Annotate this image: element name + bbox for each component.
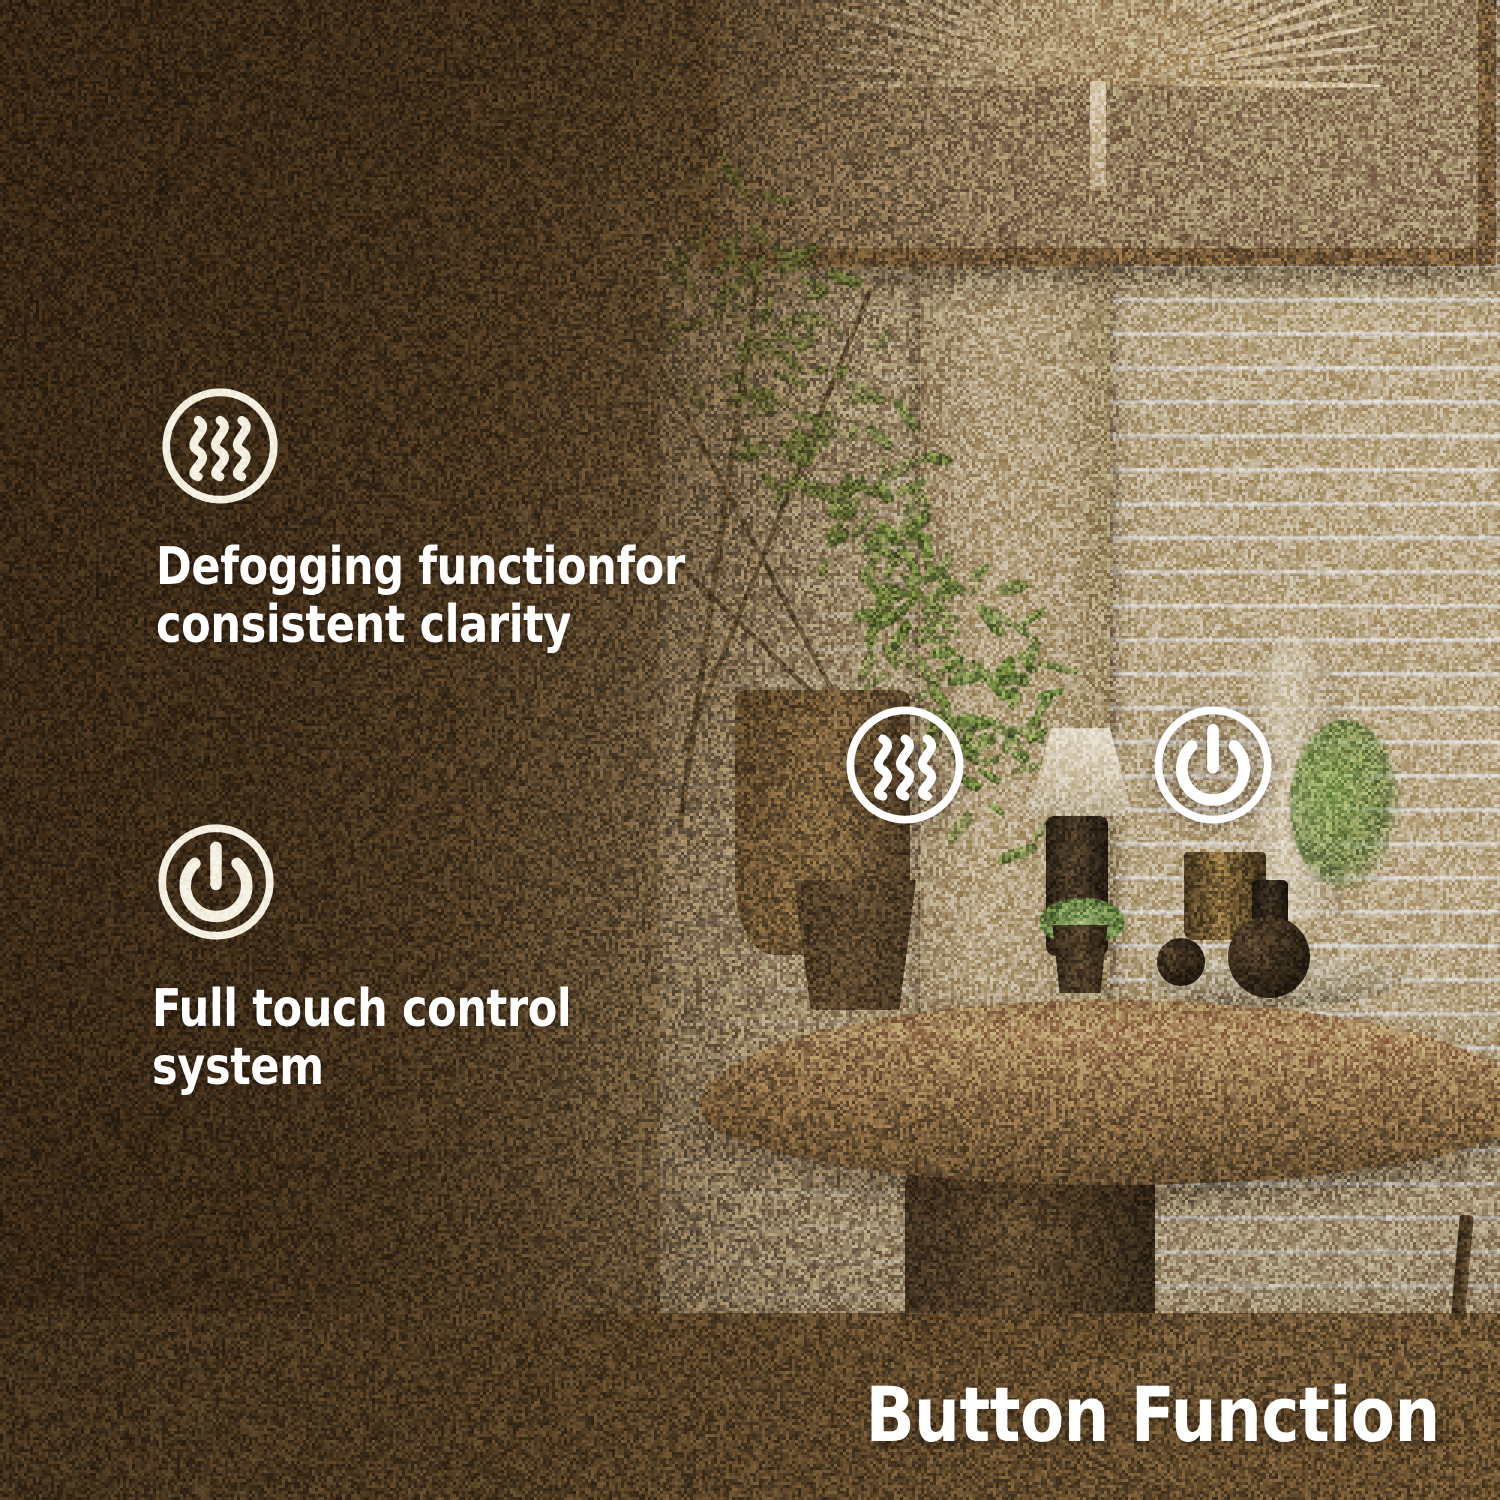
product-feature-banner: Defogging functionfor consistent clarity… [0, 0, 1500, 1500]
defog-waves-icon [156, 382, 284, 510]
defog-waves-icon[interactable] [840, 700, 970, 830]
feature-touch-control-text: Full touch control system [152, 980, 722, 1096]
power-button-icon [152, 818, 280, 946]
page-title: Button Function [866, 1370, 1440, 1459]
mirror-power-touch-button[interactable] [1148, 700, 1278, 830]
mirror-defog-touch-button[interactable] [840, 700, 970, 830]
power-button-icon[interactable] [1148, 700, 1278, 830]
feature-touch-control: Full touch control system [152, 818, 772, 1096]
feature-defogging: Defogging functionfor consistent clarity [156, 382, 796, 654]
feature-defogging-text: Defogging functionfor consistent clarity [156, 538, 745, 654]
